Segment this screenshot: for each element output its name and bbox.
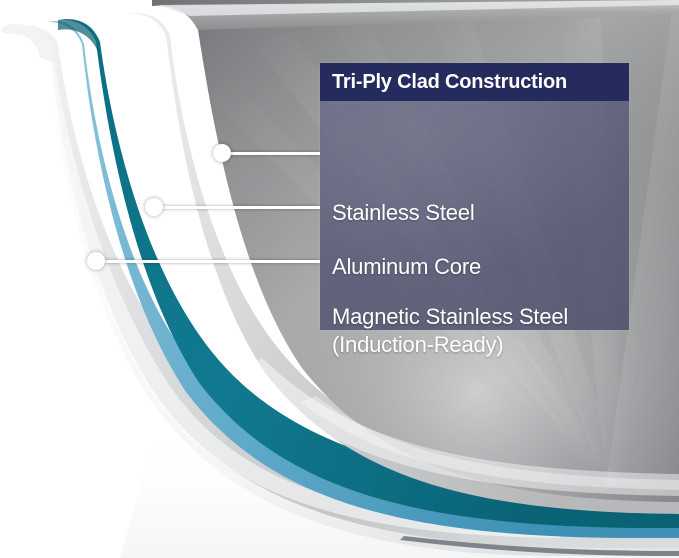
callout-dot-stainless-steel: [213, 144, 231, 162]
cookware-cutaway-diagram: Tri-Ply Clad Construction Stainless Stee…: [0, 0, 679, 558]
layer-label-magnetic-stainless-steel: Magnetic Stainless Steel (Induction-Read…: [332, 303, 568, 359]
panel-sheen: [320, 63, 629, 330]
layer-label-stainless-steel: Stainless Steel: [332, 199, 475, 227]
panel-title-bar: Tri-Ply Clad Construction: [320, 63, 629, 101]
callout-dot-magnetic-stainless-steel: [87, 252, 105, 270]
layer-label-aluminum-core: Aluminum Core: [332, 253, 481, 281]
leader-line-stainless-steel: [222, 152, 320, 155]
construction-callout-panel: Tri-Ply Clad Construction Stainless Stee…: [320, 63, 629, 330]
leader-line-aluminum-core: [154, 206, 320, 209]
panel-title-text: Tri-Ply Clad Construction: [332, 71, 567, 94]
leader-line-magnetic-stainless-steel: [96, 260, 320, 263]
callout-dot-aluminum-core: [145, 198, 163, 216]
